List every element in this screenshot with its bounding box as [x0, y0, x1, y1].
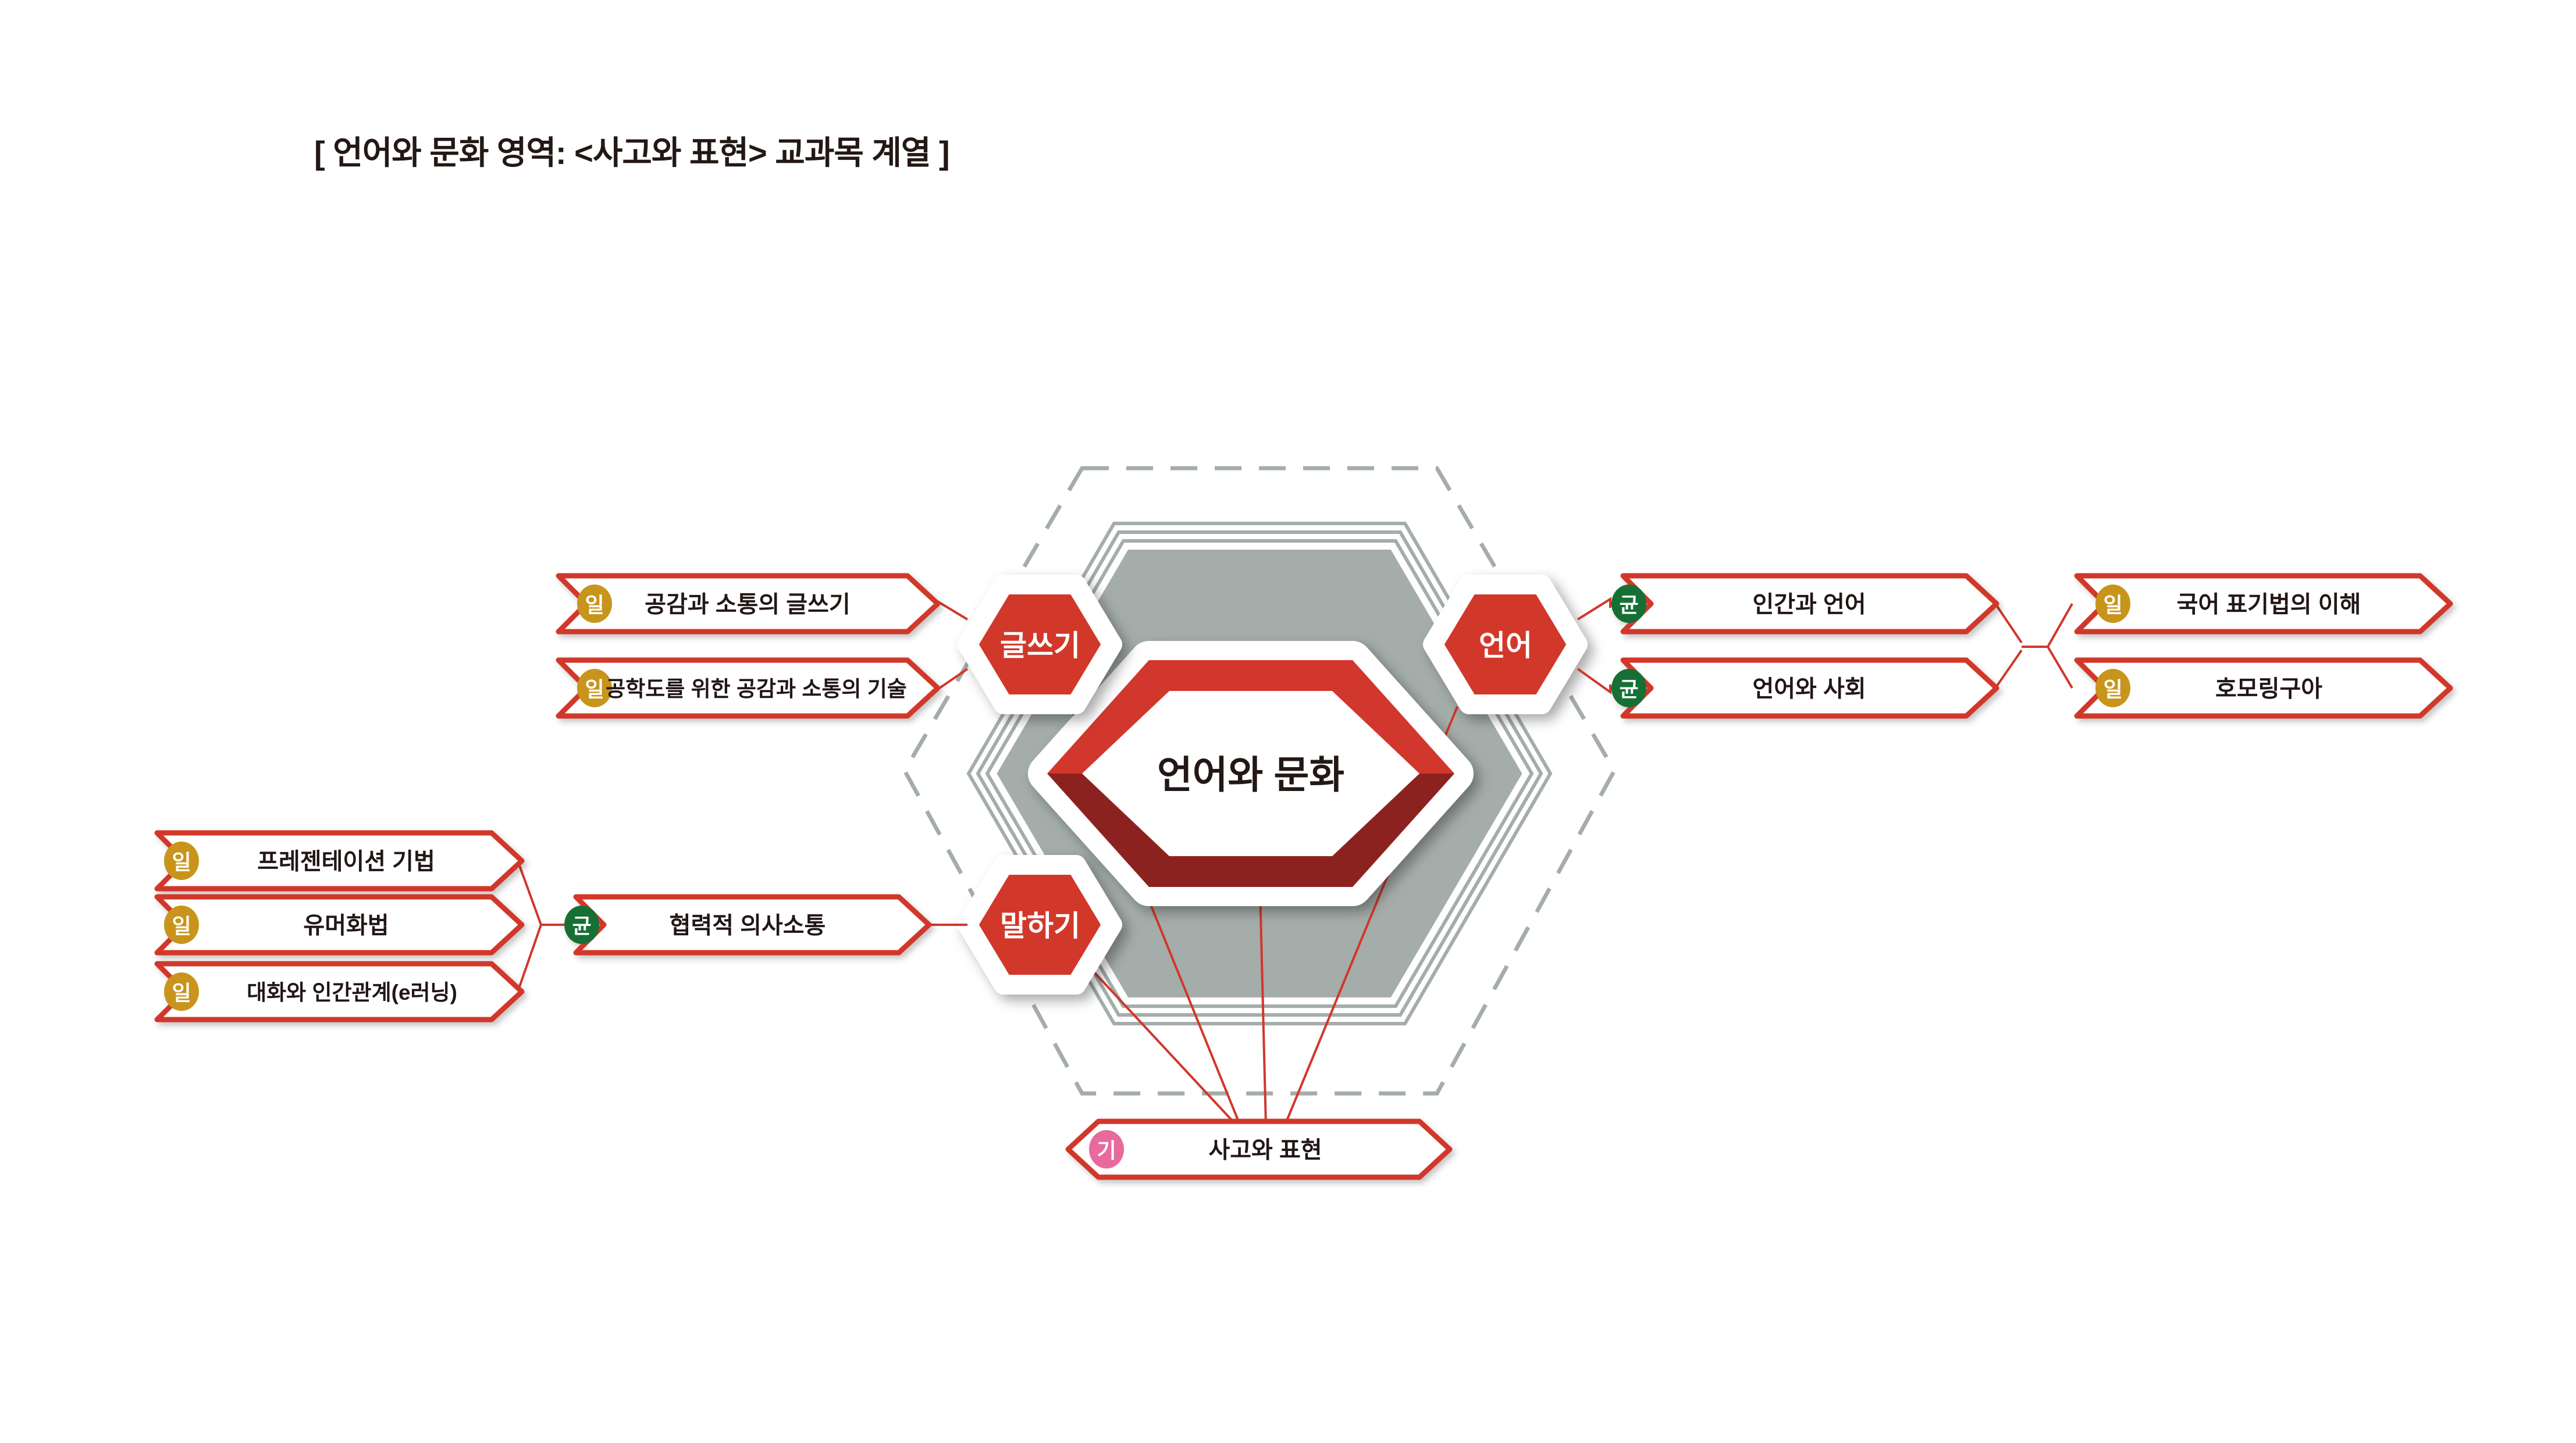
course-pill-label: 사고와 표현 [1208, 1138, 1322, 1163]
hex-node-language-label: 언어 [1479, 629, 1532, 662]
course-pill-label: 공감과 소통의 글쓰기 [645, 592, 850, 618]
course-pill-label: 국어 표기법의 이해 [2177, 592, 2361, 618]
course-sequence-diagram: 언어와 문화 글쓰기 말하기 언어 [0, 0, 2576, 1443]
badge-label: 일 [585, 593, 604, 617]
course-pill-speaking-2[interactable]: 일 유머화법 [157, 897, 522, 953]
course-pill-language-1[interactable]: 일 국어 표기법의 이해 [2077, 576, 2450, 632]
course-pill-label: 호모링구아 [2215, 676, 2322, 702]
course-pill-language-hub-2[interactable]: 균 언어와 사회 [1611, 660, 1997, 716]
connector-lines-language-hub [1995, 604, 2072, 688]
hex-node-speaking-label: 말하기 [1000, 910, 1080, 942]
core-hexagon: 언어와 문화 [1047, 660, 1454, 887]
course-pill-root[interactable]: 기 사고와 표현 [1068, 1121, 1450, 1177]
badge-label: 균 [1619, 593, 1638, 617]
badge-label: 균 [572, 914, 591, 938]
course-pill-speaking-1[interactable]: 일 프레젠테이션 기법 [157, 833, 522, 889]
course-pill-speaking-3[interactable]: 일 대화와 인간관계(e러닝) [157, 964, 522, 1020]
course-pill-language-hub-1[interactable]: 균 인간과 언어 [1611, 576, 1997, 632]
course-pill-speaking-hub[interactable]: 균 협력적 의사소통 [564, 897, 929, 953]
badge-label: 일 [172, 850, 191, 874]
badge-label: 일 [172, 914, 191, 938]
course-pill-writing-2[interactable]: 일 공학도를 위한 공감과 소통의 기술 [558, 660, 938, 716]
badge-label: 일 [172, 981, 191, 1005]
course-pill-label: 대화와 인간관계(e러닝) [247, 981, 457, 1004]
course-pill-label: 협력적 의사소통 [670, 913, 826, 939]
badge-label: 일 [2103, 678, 2122, 701]
course-pill-label: 공학도를 위한 공감과 소통의 기술 [606, 677, 907, 701]
course-pill-label: 프레젠테이션 기법 [257, 849, 435, 875]
course-pill-label: 언어와 사회 [1752, 676, 1866, 702]
hex-node-speaking[interactable]: 말하기 [967, 865, 1112, 985]
badge-label: 일 [2103, 593, 2122, 617]
hex-node-writing[interactable]: 글쓰기 [967, 585, 1112, 704]
badge-label: 일 [585, 678, 604, 701]
hex-node-language[interactable]: 언어 [1433, 585, 1578, 704]
hex-node-writing-label: 글쓰기 [1000, 629, 1080, 662]
core-label: 언어와 문화 [1157, 753, 1344, 796]
badge-label: 기 [1097, 1139, 1116, 1163]
course-pill-writing-1[interactable]: 일 공감과 소통의 글쓰기 [558, 576, 938, 632]
course-pill-label: 인간과 언어 [1752, 592, 1866, 618]
badge-label: 균 [1619, 678, 1638, 701]
course-pill-language-2[interactable]: 일 호모링구아 [2077, 660, 2450, 716]
course-pill-label: 유머화법 [303, 913, 389, 939]
